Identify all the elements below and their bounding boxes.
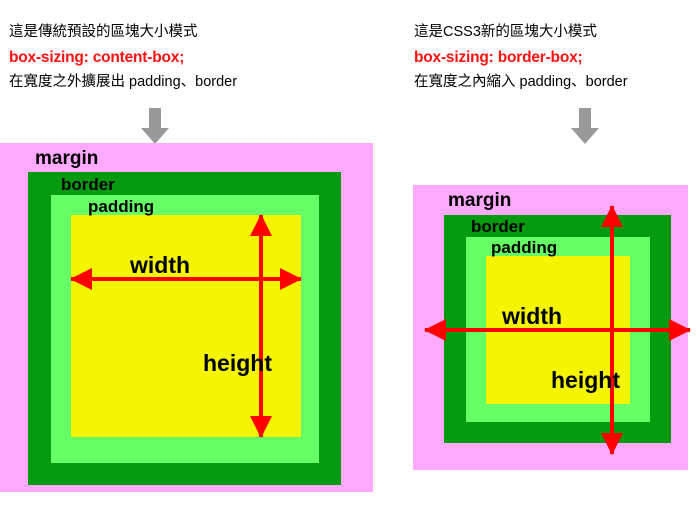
right-label-padding: padding (491, 238, 557, 258)
caption-line-1: 這是傳統預設的區塊大小模式 (9, 20, 237, 45)
caption-line-1: 這是CSS3新的區塊大小模式 (414, 20, 628, 45)
left-label-height: height (203, 350, 272, 377)
left-label-width: width (130, 252, 190, 279)
gray-arrow-shaft (149, 108, 161, 130)
left-label-padding: padding (88, 197, 154, 217)
left-height-arrow-line (259, 215, 263, 437)
right-label-border: border (471, 217, 525, 237)
left-width-arrow-tip-right (280, 268, 302, 290)
left-label-margin: margin (35, 148, 98, 170)
caption-code-border-box: box-sizing: border-box; (414, 45, 628, 70)
gray-arrow-head (571, 128, 599, 144)
gray-arrow-head (141, 128, 169, 144)
caption-code-content-box: box-sizing: content-box; (9, 45, 237, 70)
left-height-arrow-tip-top (250, 214, 272, 236)
caption-content-box: 這是傳統預設的區塊大小模式 box-sizing: content-box; 在… (9, 20, 237, 95)
right-label-height: height (551, 367, 620, 394)
left-height-arrow (259, 215, 263, 437)
right-height-arrow-tip-bottom (601, 433, 623, 455)
caption-line-3: 在寬度之內縮入 padding、border (414, 70, 628, 95)
gray-down-arrow-left (141, 108, 169, 144)
gray-down-arrow-right (571, 108, 599, 144)
right-label-width: width (502, 303, 562, 330)
right-width-arrow-tip-left (424, 319, 446, 341)
left-label-border: border (61, 175, 115, 195)
left-width-arrow-tip-left (70, 268, 92, 290)
right-height-arrow-tip-top (601, 205, 623, 227)
right-label-margin: margin (448, 190, 511, 212)
right-width-arrow-tip-right (669, 319, 691, 341)
left-height-arrow-tip-bottom (250, 416, 272, 438)
left-content-box (71, 215, 301, 437)
right-height-arrow (610, 206, 614, 454)
caption-line-3: 在寬度之外擴展出 padding、border (9, 70, 237, 95)
right-height-arrow-line (610, 206, 614, 454)
diagram-canvas: 這是傳統預設的區塊大小模式 box-sizing: content-box; 在… (0, 0, 700, 514)
caption-border-box: 這是CSS3新的區塊大小模式 box-sizing: border-box; 在… (414, 20, 628, 95)
gray-arrow-shaft (579, 108, 591, 130)
